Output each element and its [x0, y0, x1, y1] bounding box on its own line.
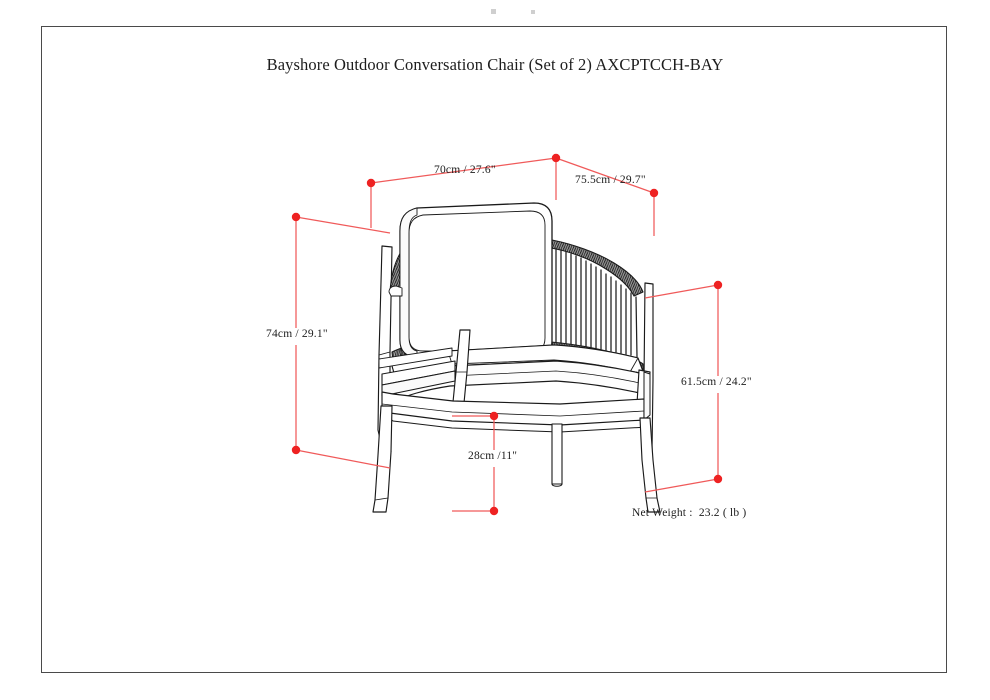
dimension-label-height: 74cm / 29.1" — [266, 328, 328, 340]
page-title: Bayshore Outdoor Conversation Chair (Set… — [0, 55, 990, 75]
dimension-sheet: Bayshore Outdoor Conversation Chair (Set… — [0, 0, 990, 700]
registration-mark-right — [531, 10, 535, 14]
dimension-label-width: 70cm / 27.6" — [434, 164, 496, 176]
net-weight-label: Net Weight : 23.2 ( lb ) — [632, 507, 746, 519]
registration-mark-left — [491, 9, 496, 14]
page-border — [41, 26, 947, 673]
dimension-label-side-height: 61.5cm / 24.2" — [681, 376, 752, 388]
dimension-label-depth: 75.5cm / 29.7" — [575, 174, 646, 186]
dimension-label-seat-clearance: 28cm /11" — [468, 450, 517, 462]
